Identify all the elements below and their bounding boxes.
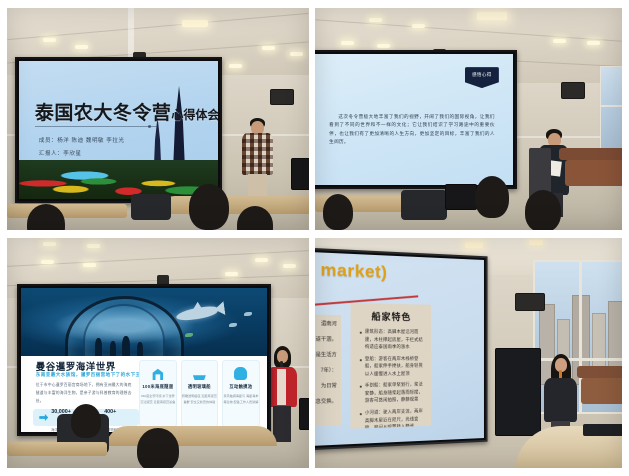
- led-screen-top-right: 感悟心得 这次冬令营极大地丰富了我们的视野，开阔了我们的国际视角，让我们看到了不…: [315, 50, 517, 189]
- classroom-scene-bottom-left: 曼谷暹罗海洋世界 东南亚最大水族馆，暹罗百丽宫地下了的水下王国 位于市中心暹罗百…: [7, 238, 309, 468]
- slide-reporter: 汇报人：李欣星: [39, 149, 82, 157]
- ceiling-light: [87, 244, 100, 248]
- feature-card: 透明玻璃船 俯瞰透明船底 近距离观赏鱼群 安全又新奇的体验: [181, 360, 219, 427]
- lecture-desk: [559, 148, 622, 160]
- audience-head: [525, 190, 561, 230]
- bullet-item: 登船：游客在两岸木栈桥登船，船家伸手搀扶，船身轻晃以人缓慢进入水上屋顶: [365, 355, 423, 378]
- ceiling-light: [41, 260, 54, 264]
- window: [600, 66, 622, 150]
- lecture-desk: [7, 204, 127, 218]
- desk-monitor: [291, 158, 309, 190]
- audience-chair: [401, 190, 447, 220]
- card-text: 360度全景环绕 水下世界沉浸观赏 近距离观赏鲨鱼: [140, 394, 176, 406]
- ceiling-light: [587, 41, 600, 45]
- ceiling-light: [341, 41, 354, 45]
- photo-panel-bottom-left: 曼谷暹罗海洋世界 东南亚最大水族馆，暹罗百丽宫地下了的水下王国 位于市中心暹罗百…: [7, 238, 309, 468]
- classroom-scene-bottom-right: ter market) 湄南河 道干涸， 是生活方 7年）： 为日常 信息交换。…: [315, 238, 622, 468]
- visitor-silhouette: [137, 342, 143, 356]
- card-heading: 透明玻璃船: [188, 384, 211, 390]
- visitor-silhouette: [95, 338, 102, 356]
- ceiling-light: [377, 44, 390, 48]
- bullet-list: 建筑形态：高脚木屋沿河而建，木柱撑起房屋，干栏式结构适应泰国雨季的涨水 登船：游…: [357, 328, 425, 429]
- led-screen-top-left: 泰国农大冬令营心得体会 成员：杨洋 陈迪 魏明敏 李拉光 汇报人：李欣星: [15, 57, 222, 203]
- tunnel-icon: [151, 367, 164, 380]
- slide-aquarium: 曼谷暹罗海洋世界 东南亚最大水族馆，暹罗百丽宫地下了的水下王国 位于市中心暹罗百…: [21, 288, 267, 432]
- ceiling-light: [182, 20, 208, 27]
- slide-title-fragment: ter market): [315, 259, 387, 283]
- audience-head: [71, 404, 101, 438]
- fish-icon: [244, 312, 252, 316]
- audience-chair: [131, 194, 171, 220]
- ceiling-light: [43, 38, 56, 42]
- left-text-line: 是生活方: [315, 351, 337, 359]
- presenter-inner-top: [277, 369, 286, 405]
- ceiling-light: [255, 258, 268, 262]
- left-text-column: 湄南河 道干涸， 是生活方 7年）： 为日常 信息交换。: [315, 314, 341, 428]
- audience-head: [323, 194, 353, 230]
- title-divider: [35, 126, 158, 127]
- wall-speaker: [515, 293, 545, 311]
- bullet-item: 小河道：驶入两岸支流，两岸高脚木屋近在咫尺，光线变暗，窗间从喧嚣转入静谧: [365, 407, 423, 429]
- lecture-desk: [565, 160, 622, 186]
- left-text-line: 湄南河: [315, 319, 337, 328]
- fish-icon: [229, 323, 237, 327]
- wall-speaker: [270, 89, 294, 105]
- audience-head: [137, 428, 179, 468]
- ceiling-light: [225, 272, 238, 276]
- card-text: 俯瞰透明船底 近距离观赏鱼群 安全又新奇的体验: [182, 394, 218, 406]
- slide-title: 泰国农大冬令营心得体会: [35, 98, 218, 125]
- photo-collage: 泰国农大冬令营心得体会 成员：杨洋 陈迪 魏明敏 李拉光 汇报人：李欣星: [0, 0, 629, 476]
- ceiling-light: [412, 24, 425, 28]
- classroom-scene-top-left: 泰国农大冬令营心得体会 成员：杨洋 陈迪 魏明敏 李拉光 汇报人：李欣星: [7, 8, 309, 230]
- ceiling-light: [75, 45, 88, 49]
- lecture-desk: [577, 366, 622, 378]
- ceiling-light: [290, 52, 303, 56]
- audience-head: [475, 176, 509, 218]
- left-text-line: 7年）：: [315, 366, 337, 375]
- feature-card: 100米海底隧道 360度全景环绕 水下世界沉浸观赏 近距离观赏鲨鱼: [139, 360, 177, 427]
- bullet-panel: 船家特色 建筑形态：高脚木屋沿河而建，木柱撑起房屋，干栏式结构适应泰国雨季的涨水…: [351, 303, 431, 429]
- keyboard: [583, 424, 622, 436]
- classroom-scene-top-right: 感悟心得 这次冬令营极大地丰富了我们的视野，开阔了我们的国际视角，让我们看到了不…: [315, 8, 622, 230]
- slide-title-main: 泰国农大冬令营: [35, 103, 172, 124]
- feature-cards: 100米海底隧道 360度全景环绕 水下世界沉浸观赏 近距离观赏鲨鱼 透明玻璃船…: [139, 360, 260, 427]
- boat-icon: [193, 367, 206, 380]
- slide-floating-market: ter market) 湄南河 道干涸， 是生活方 7年）： 为日常 信息交换。…: [315, 252, 484, 447]
- ceiling-light: [465, 242, 483, 248]
- slide-reflection-text: 感悟心得 这次冬令营极大地丰富了我们的视野，开阔了我们的国际视角，让我们看到了不…: [315, 54, 513, 185]
- ceiling-light: [529, 240, 543, 245]
- hand-icon: [234, 367, 247, 380]
- desk-monitor: [445, 184, 477, 210]
- lecture-desk: [107, 426, 277, 446]
- card-heading: 100米海底隧道: [142, 384, 173, 390]
- arrow-icon: [39, 414, 48, 421]
- stat-value: 400+: [104, 409, 116, 415]
- feature-card: 互动触摸池 亲手触摸海星与 海星海参等生物 配备工作人员讲解: [222, 360, 260, 427]
- audience-head: [189, 184, 229, 230]
- slide-members: 成员：杨洋 陈迪 魏明敏 李拉光: [39, 136, 125, 144]
- ceiling-light: [553, 39, 566, 43]
- left-text-line: 道干涸，: [315, 335, 337, 344]
- photo-panel-top-right: 感悟心得 这次冬令营极大地丰富了我们的视野，开阔了我们的国际视角，让我们看到了不…: [315, 8, 622, 230]
- desk-monitor: [299, 398, 309, 430]
- ceiling-light: [369, 18, 382, 22]
- lecture-desk: [581, 378, 622, 404]
- ceiling-light: [229, 64, 242, 68]
- ceiling-light: [283, 264, 296, 268]
- ceiling-light: [43, 242, 56, 246]
- slide-title-sub: 心得体会: [171, 108, 218, 122]
- projector-screen-bottom-right: ter market) 湄南河 道干涸， 是生活方 7年）： 为日常 信息交换。…: [315, 247, 488, 451]
- wall-speaker: [561, 82, 585, 99]
- left-text-line: 为日常: [315, 381, 337, 390]
- bullet-panel-heading: 船家特色: [357, 310, 425, 324]
- shark-icon: [175, 305, 218, 322]
- visitor-silhouette: [110, 341, 116, 356]
- slide-title-camp: 泰国农大冬令营心得体会 成员：杨洋 陈迪 魏明敏 李拉光 汇报人：李欣星: [19, 61, 218, 199]
- garden-illustration: [19, 160, 218, 199]
- card-text: 亲手触摸海星与 海星海参等生物 配备工作人员讲解: [223, 394, 259, 406]
- lecture-desk: [7, 442, 107, 456]
- left-text-line: 信息交换。: [315, 397, 337, 407]
- ceiling-light: [83, 263, 96, 267]
- led-screen-bottom-left: 曼谷暹罗海洋世界 东南亚最大水族馆，暹罗百丽宫地下了的水下王国 位于市中心暹罗百…: [17, 284, 271, 436]
- card-heading: 互动触摸池: [229, 384, 252, 390]
- bullet-item: 建筑形态：高脚木屋沿河而建，木柱撑起房屋，干栏式结构适应泰国雨季的涨水: [365, 328, 423, 351]
- fish-icon: [185, 333, 193, 337]
- aquarium-hero-image: [21, 288, 267, 356]
- visitor-silhouette: [122, 336, 130, 356]
- ceiling-light: [477, 12, 507, 20]
- photo-panel-bottom-right: ter market) 湄南河 道干涸， 是生活方 7年）： 为日常 信息交换。…: [315, 238, 622, 468]
- bullet-item: 手划船：船家单桨划行，桨法安静，船身随浆起落而轻摆，游客可悠闲拍照，静静观景: [365, 381, 423, 405]
- slide-subheading: 东南亚最大水族馆，暹罗百丽宫地下了的水下王国: [36, 372, 146, 378]
- lecture-desk: [157, 196, 309, 214]
- ceiling-light: [262, 46, 275, 50]
- slide-badge: 感悟心得: [465, 67, 499, 88]
- slide-paragraph: 这次冬令营极大地丰富了我们的视野，开阔了我们的国际视角，让我们看到了不同的世界和…: [329, 113, 495, 147]
- podium-monitor: [495, 348, 541, 436]
- presenter-notes: [549, 160, 562, 176]
- photo-panel-top-left: 泰国农大冬令营心得体会 成员：杨洋 陈迪 魏明敏 李拉光 汇报人：李欣星: [7, 8, 309, 230]
